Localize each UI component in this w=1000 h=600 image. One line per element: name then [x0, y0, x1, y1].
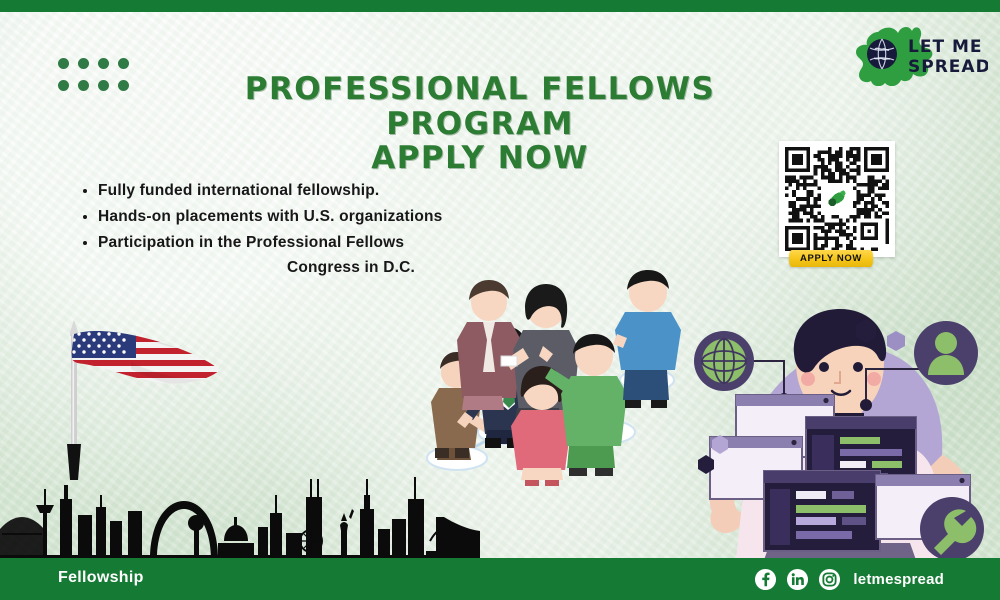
decor-dot — [118, 58, 129, 69]
window-code-dark-bottom — [764, 471, 880, 551]
title-line-1: PROFESSIONAL FELLOWS PROGRAM — [150, 72, 810, 141]
bullet-text-2: Hands-on placements with U.S. organizati… — [98, 208, 442, 225]
list-item: Participation in the Professional Fellow… — [98, 230, 568, 280]
dot-grid-decoration — [58, 58, 138, 102]
wrench-badge-icon — [920, 497, 984, 560]
category-label: Fellowship — [58, 569, 144, 587]
brand-logo[interactable]: LET ME SPREAD — [848, 24, 988, 86]
bullet-text-1: Fully funded international fellowship. — [98, 182, 379, 199]
logo-text-line-2: SPREAD — [908, 57, 988, 77]
instagram-icon[interactable] — [818, 568, 841, 591]
list-item: Fully funded international fellowship. — [98, 178, 568, 203]
qr-code-card[interactable] — [779, 141, 895, 257]
bullet-text-4: Congress in D.C. — [98, 255, 568, 280]
qr-center-logo — [824, 186, 849, 211]
top-accent-bar — [0, 0, 1000, 12]
flag-cloth — [66, 322, 231, 392]
skyline-shapes — [0, 477, 480, 563]
developer-illustration — [690, 305, 990, 560]
decor-dot — [78, 80, 89, 91]
poster-canvas: PROFESSIONAL FELLOWS PROGRAM APPLY NOW F… — [0, 0, 1000, 600]
decor-dot — [98, 80, 109, 91]
globe-badge-icon — [694, 331, 754, 391]
decor-dot — [58, 58, 69, 69]
linkedin-icon[interactable] — [786, 568, 809, 591]
globe-icon — [867, 39, 897, 69]
decor-dot — [118, 80, 129, 91]
footer-bar: Fellowship letmespread — [0, 558, 1000, 600]
qr-alignment-pattern — [860, 222, 878, 240]
user-badge-icon — [914, 321, 978, 385]
benefits-list: Fully funded international fellowship. H… — [72, 178, 568, 281]
title-line-2: APPLY NOW — [150, 141, 810, 176]
decor-dot — [98, 58, 109, 69]
social-handle[interactable]: letmespread — [853, 571, 944, 588]
bullet-text-3: Participation in the Professional Fellow… — [98, 234, 404, 251]
qr-code-image[interactable] — [785, 147, 889, 251]
page-title: PROFESSIONAL FELLOWS PROGRAM APPLY NOW — [150, 72, 810, 176]
social-links: letmespread — [754, 568, 944, 591]
decor-dot — [58, 80, 69, 91]
city-skyline-silhouette — [0, 455, 480, 563]
decor-dot — [78, 58, 89, 69]
logo-text-line-1: LET ME — [908, 37, 983, 57]
list-item: Hands-on placements with U.S. organizati… — [98, 204, 568, 229]
apply-now-button[interactable]: APPLY NOW — [789, 250, 873, 267]
facebook-icon[interactable] — [754, 568, 777, 591]
person-maroon-blazer — [457, 280, 521, 410]
